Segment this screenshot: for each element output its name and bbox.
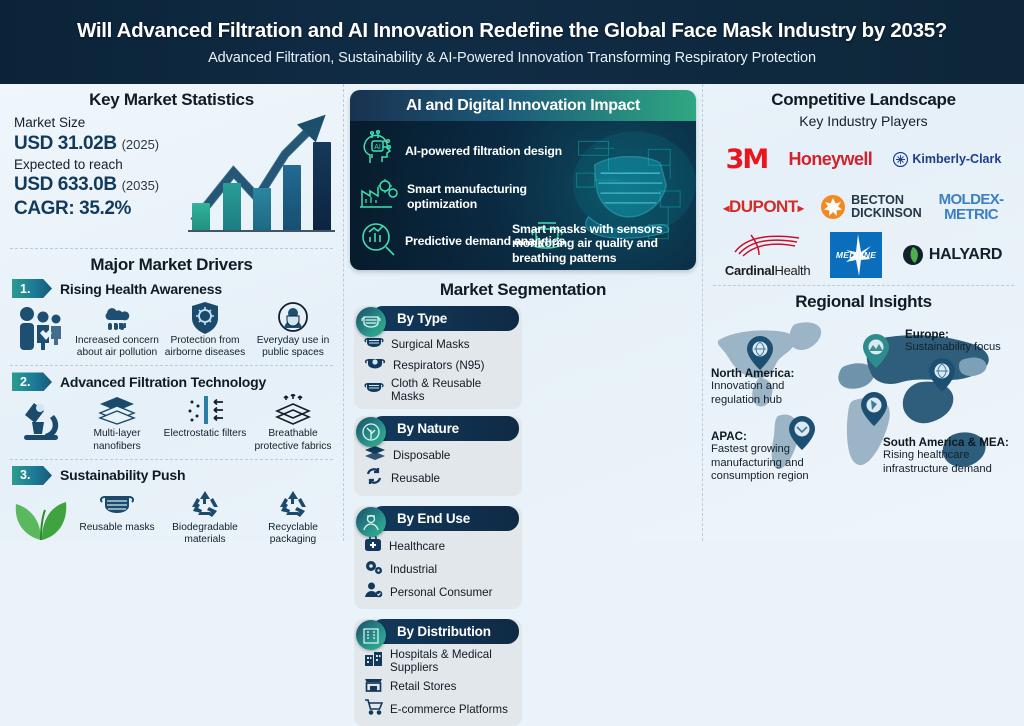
segmentation-card-by-end-use[interactable]: By End Use Healthcare Industrial Pers: [354, 506, 522, 609]
driver-point-label: Increased concern about air pollution: [74, 335, 160, 359]
air-pollution-icon: [74, 300, 160, 334]
green-leaves-icon: [10, 487, 72, 545]
divider: [10, 459, 333, 460]
cagr-row: CAGR: 35.2%: [14, 198, 184, 220]
smart-factory-icon: [358, 175, 400, 218]
header-banner: Will Advanced Filtration and AI Innovati…: [0, 0, 1024, 84]
driver-point: Increased concern about air pollution: [74, 300, 160, 359]
segmentation-card-by-type[interactable]: By Type Surgical Masks Respirators (N95): [354, 306, 522, 409]
logo-kimberly-clark-label: Kimberly-Clark: [912, 152, 1001, 166]
becton-dickinson-mark-icon: [820, 194, 846, 220]
breathable-layers-icon: [250, 393, 336, 427]
person-mask-icon: [250, 300, 336, 334]
region-apac: APAC: Fastest growing manufacturing and …: [711, 430, 829, 484]
respirator-icon: [364, 356, 386, 376]
driver-points: Increased concern about air pollution P: [74, 300, 336, 359]
segmentation-card-by-nature[interactable]: By Nature Disposable Reusable: [354, 416, 522, 496]
list-item[interactable]: Disposable: [364, 445, 516, 466]
driver-header: 1. Rising Health Awareness: [12, 279, 335, 298]
list-item[interactable]: Industrial: [364, 558, 516, 580]
list-item[interactable]: Cloth & Reusable Masks: [364, 377, 516, 403]
driver-title: Advanced Filtration Technology: [60, 374, 266, 390]
logo-honeywell: Honeywell: [789, 149, 873, 170]
mask-icon: [74, 487, 160, 521]
logo-cardinal-health: CardinalHealth: [725, 232, 810, 278]
region-name: Europe:: [905, 328, 1021, 341]
hospital-building-icon: [356, 620, 386, 650]
expected-year: (2035): [122, 178, 160, 193]
list-item-label: Healthcare: [389, 540, 445, 553]
chart-bar: [253, 188, 271, 230]
logo-becton-dickinson: BECTONDICKINSON: [820, 194, 922, 220]
driver-row: Multi-layer nanofibers: [8, 393, 335, 452]
kimberly-clark-mark-icon: [893, 152, 908, 167]
logo-dupont: ◂DUPONT▸: [723, 197, 803, 217]
cagr-label: CAGR:: [14, 198, 74, 219]
ai-item-label: AI-powered filtration design: [405, 144, 562, 158]
divider: [10, 365, 333, 366]
people-group-icon: [10, 300, 72, 358]
region-desc: Fastest growing manufacturing and consum…: [711, 443, 829, 483]
segmentation-heading: Market Segmentation: [350, 280, 696, 300]
driver-points: Reusable masks Biodegradable materials: [74, 487, 336, 546]
logo-medline-label: MEDLINE: [836, 250, 876, 260]
logo-grid: 3M Honeywell Kimberly-Clark ◂DUPONT▸: [711, 129, 1016, 279]
segmentation-card-items: Disposable Reusable: [354, 441, 522, 490]
driver-row: Increased concern about air pollution P: [8, 300, 335, 359]
driver-point-label: Biodegradable materials: [162, 522, 248, 546]
cardinal-health-mark-icon: [731, 232, 805, 258]
doctor-icon: [356, 507, 386, 537]
divider: [713, 285, 1014, 286]
driver-row: Reusable masks Biodegradable materials: [8, 487, 335, 546]
segmentation-card-items: Surgical Masks Respirators (N95) Cloth &…: [354, 331, 522, 403]
driver-point-label: Multi-layer nanofibers: [74, 428, 160, 452]
chart-bar: [283, 165, 301, 230]
eco-brain-icon: [356, 417, 386, 447]
list-item[interactable]: Hospitals & Medical Suppliers: [364, 648, 516, 674]
chart-bars: [192, 132, 331, 230]
logo-kimberly-clark: Kimberly-Clark: [893, 152, 1001, 167]
map-pin-mea[interactable]: [861, 392, 887, 431]
chart-bar: [192, 203, 210, 230]
chart-baseline: [188, 230, 335, 232]
growth-bar-chart: [186, 110, 335, 242]
list-item[interactable]: Personal Consumer: [364, 581, 516, 603]
driver-number-badge: 2.: [12, 372, 52, 391]
driver-point-label: Electrostatic filters: [162, 428, 248, 440]
list-item-label: Industrial: [390, 563, 437, 576]
list-item-label: E-commerce Platforms: [390, 703, 508, 716]
driver-point: Protection from airborne diseases: [162, 300, 248, 359]
cloth-mask-icon: [364, 380, 384, 400]
region-name: North America:: [711, 367, 821, 380]
region-desc: Innovation and regulation hub: [711, 380, 821, 407]
list-item-label: Reusable: [391, 472, 440, 485]
driver-point: Multi-layer nanofibers: [74, 393, 160, 452]
logo-cardinal-health-label: CardinalHealth: [725, 263, 810, 278]
map-pin-apac[interactable]: [929, 358, 955, 397]
driver-point-label: Protection from airborne diseases: [162, 335, 248, 359]
chart-bar: [313, 142, 331, 230]
segmentation-card-title: By End Use: [371, 506, 519, 531]
market-size-value: USD 31.02B: [14, 133, 117, 154]
mask-icon: [364, 335, 384, 355]
microscope-icon: [10, 393, 72, 451]
list-item-label: Respirators (N95): [393, 359, 485, 372]
filter-barrier-icon: [162, 393, 248, 427]
driver-point: Reusable masks: [74, 487, 160, 546]
driver-point: Everyday use in public spaces: [250, 300, 336, 359]
region-europe: Europe: Sustainability focus: [905, 328, 1021, 355]
list-item-label: Hospitals & Medical Suppliers: [390, 648, 516, 674]
expected-label: Expected to reach: [14, 157, 184, 174]
driver-header: 2. Advanced Filtration Technology: [12, 372, 335, 391]
logo-row: CardinalHealth MEDLINE HALYARD: [715, 231, 1012, 279]
list-item-label: Surgical Masks: [391, 338, 470, 351]
driver-point: Breathable protective fabrics: [250, 393, 336, 452]
segmentation-card-title: By Nature: [371, 416, 519, 441]
shield-virus-icon: [162, 300, 248, 334]
cagr-value: 35.2%: [79, 198, 131, 219]
logo-dupont-label: DUPONT: [729, 197, 798, 216]
logo-moldex-metric: MOLDEX-METRIC: [939, 192, 1004, 222]
right-column: Competitive Landscape Key Industry Playe…: [703, 84, 1024, 541]
segmentation-card-items: Healthcare Industrial Personal Consumer: [354, 531, 522, 603]
driver-group-3: 3. Sustainability Push: [8, 466, 335, 546]
ai-panel-heading: AI and Digital Innovation Impact: [350, 90, 696, 121]
list-item-label: Personal Consumer: [390, 586, 492, 599]
market-size-label: Market Size: [14, 115, 184, 132]
region-desc: Sustainability focus: [905, 341, 1021, 354]
driver-point: Electrostatic filters: [162, 393, 248, 452]
driver-title: Sustainability Push: [60, 467, 185, 483]
key-stats-block: Market Size USD 31.02B (2025) Expected t…: [8, 110, 335, 242]
expected-value: USD 633.0B: [14, 174, 117, 195]
logo-halyard: HALYARD: [902, 244, 1002, 266]
person-check-icon: [364, 581, 383, 603]
region-name: South America & MEA:: [883, 436, 1021, 449]
list-item[interactable]: Respirators (N95): [364, 356, 516, 376]
list-item[interactable]: Surgical Masks: [364, 335, 516, 355]
market-size-year: (2025): [122, 137, 160, 152]
svg-text:AI: AI: [374, 144, 381, 151]
page-title: Will Advanced Filtration and AI Innovati…: [77, 19, 947, 43]
drivers-heading: Major Market Drivers: [8, 255, 335, 275]
divider: [10, 248, 333, 249]
hospital-icon: [364, 650, 383, 672]
ai-panel-caption: Smart masks with sensors monitoring air …: [512, 222, 690, 266]
region-south-america-mea: South America & MEA: Rising healthcare i…: [883, 436, 1021, 476]
market-size-value-row: USD 31.02B (2025): [14, 132, 184, 157]
analytics-magnifier-icon: [358, 220, 398, 263]
list-item[interactable]: Healthcare: [364, 535, 516, 557]
expected-value-row: USD 633.0B (2035): [14, 173, 184, 198]
industrial-gear-icon: [364, 558, 383, 580]
driver-number-badge: 3.: [12, 466, 52, 485]
driver-point: Biodegradable materials: [162, 487, 248, 546]
body-grid: Key Market Statistics Market Size USD 31…: [0, 84, 1024, 541]
shopping-cart-icon: [364, 698, 383, 720]
middle-column: AI and Digital Innovation Impact: [343, 84, 703, 541]
ai-item-label: Smart manufacturing optimization: [407, 182, 572, 210]
list-item[interactable]: E-commerce Platforms: [364, 698, 516, 720]
region-name: APAC:: [711, 430, 829, 443]
regional-heading: Regional Insights: [711, 292, 1016, 312]
logo-halyard-label: HALYARD: [929, 246, 1002, 264]
segmentation-grid: By Type Surgical Masks Respirators (N95): [350, 306, 696, 726]
driver-point-label: Breathable protective fabrics: [250, 428, 336, 452]
refresh-cycle-icon: [364, 467, 384, 490]
logo-3m: 3M: [726, 144, 768, 175]
segmentation-card-title: By Distribution: [371, 619, 519, 644]
recycle-icon: [162, 487, 248, 521]
left-column: Key Market Statistics Market Size USD 31…: [0, 84, 343, 541]
layers-icon: [74, 393, 160, 427]
ai-brain-chip-icon: AI: [358, 130, 398, 173]
region-desc: Rising healthcare infrastructure demand: [883, 449, 1021, 476]
driver-group-2: 2. Advanced Filtration Technology: [8, 372, 335, 452]
driver-point-label: Reusable masks: [74, 522, 160, 534]
segmentation-card-title: By Type: [371, 306, 519, 331]
driver-point-label: Everyday use in public spaces: [250, 335, 336, 359]
infographic-root: Will Advanced Filtration and AI Innovati…: [0, 0, 1024, 541]
ai-item: AI AI-powered filtration design: [358, 129, 572, 174]
segmentation-card-by-distribution[interactable]: By Distribution Hospitals & Medical Supp…: [354, 619, 522, 726]
logo-medline: MEDLINE: [830, 232, 882, 278]
segmentation-card-items: Hospitals & Medical Suppliers Retail Sto…: [354, 644, 522, 720]
driver-number-badge: 1.: [12, 279, 52, 298]
ai-panel-body: AI AI-powered filtration design: [350, 121, 696, 270]
recycle-icon: [250, 487, 336, 521]
region-north-america: North America: Innovation and regulation…: [711, 367, 821, 407]
store-icon: [364, 675, 383, 697]
stats-text: Market Size USD 31.02B (2025) Expected t…: [8, 110, 184, 220]
list-item-label: Cloth & Reusable Masks: [391, 377, 516, 403]
halyard-mark-icon: [902, 244, 924, 266]
driver-header: 3. Sustainability Push: [12, 466, 335, 485]
world-map: North America: Innovation and regulation…: [711, 314, 1016, 494]
medical-bag-icon: [364, 535, 382, 557]
list-item-label: Retail Stores: [390, 680, 456, 693]
driver-group-1: 1. Rising Health Awareness: [8, 279, 335, 359]
list-item-label: Disposable: [393, 449, 450, 462]
logo-row: 3M Honeywell Kimberly-Clark: [715, 135, 1012, 183]
logo-row: ◂DUPONT▸ BECTONDICKINSON MOLDEX-METRIC: [715, 183, 1012, 231]
layers-icon: [364, 445, 386, 466]
driver-points: Multi-layer nanofibers: [74, 393, 336, 452]
driver-point: Recyclable packaging: [250, 487, 336, 546]
ai-innovation-panel: AI and Digital Innovation Impact: [350, 90, 696, 270]
competitive-heading: Competitive Landscape: [711, 90, 1016, 110]
list-item[interactable]: Reusable: [364, 467, 516, 490]
driver-point-label: Recyclable packaging: [250, 522, 336, 546]
surgical-mask-icon: [356, 307, 386, 337]
list-item[interactable]: Retail Stores: [364, 675, 516, 697]
competitive-subheading: Key Industry Players: [711, 113, 1016, 129]
map-pin-europe[interactable]: [863, 334, 889, 373]
chart-bar: [223, 183, 241, 230]
key-stats-heading: Key Market Statistics: [8, 90, 335, 110]
driver-title: Rising Health Awareness: [60, 281, 222, 297]
logo-becton-dickinson-label: BECTONDICKINSON: [851, 194, 922, 220]
page-subtitle: Advanced Filtration, Sustainability & AI…: [208, 50, 816, 66]
